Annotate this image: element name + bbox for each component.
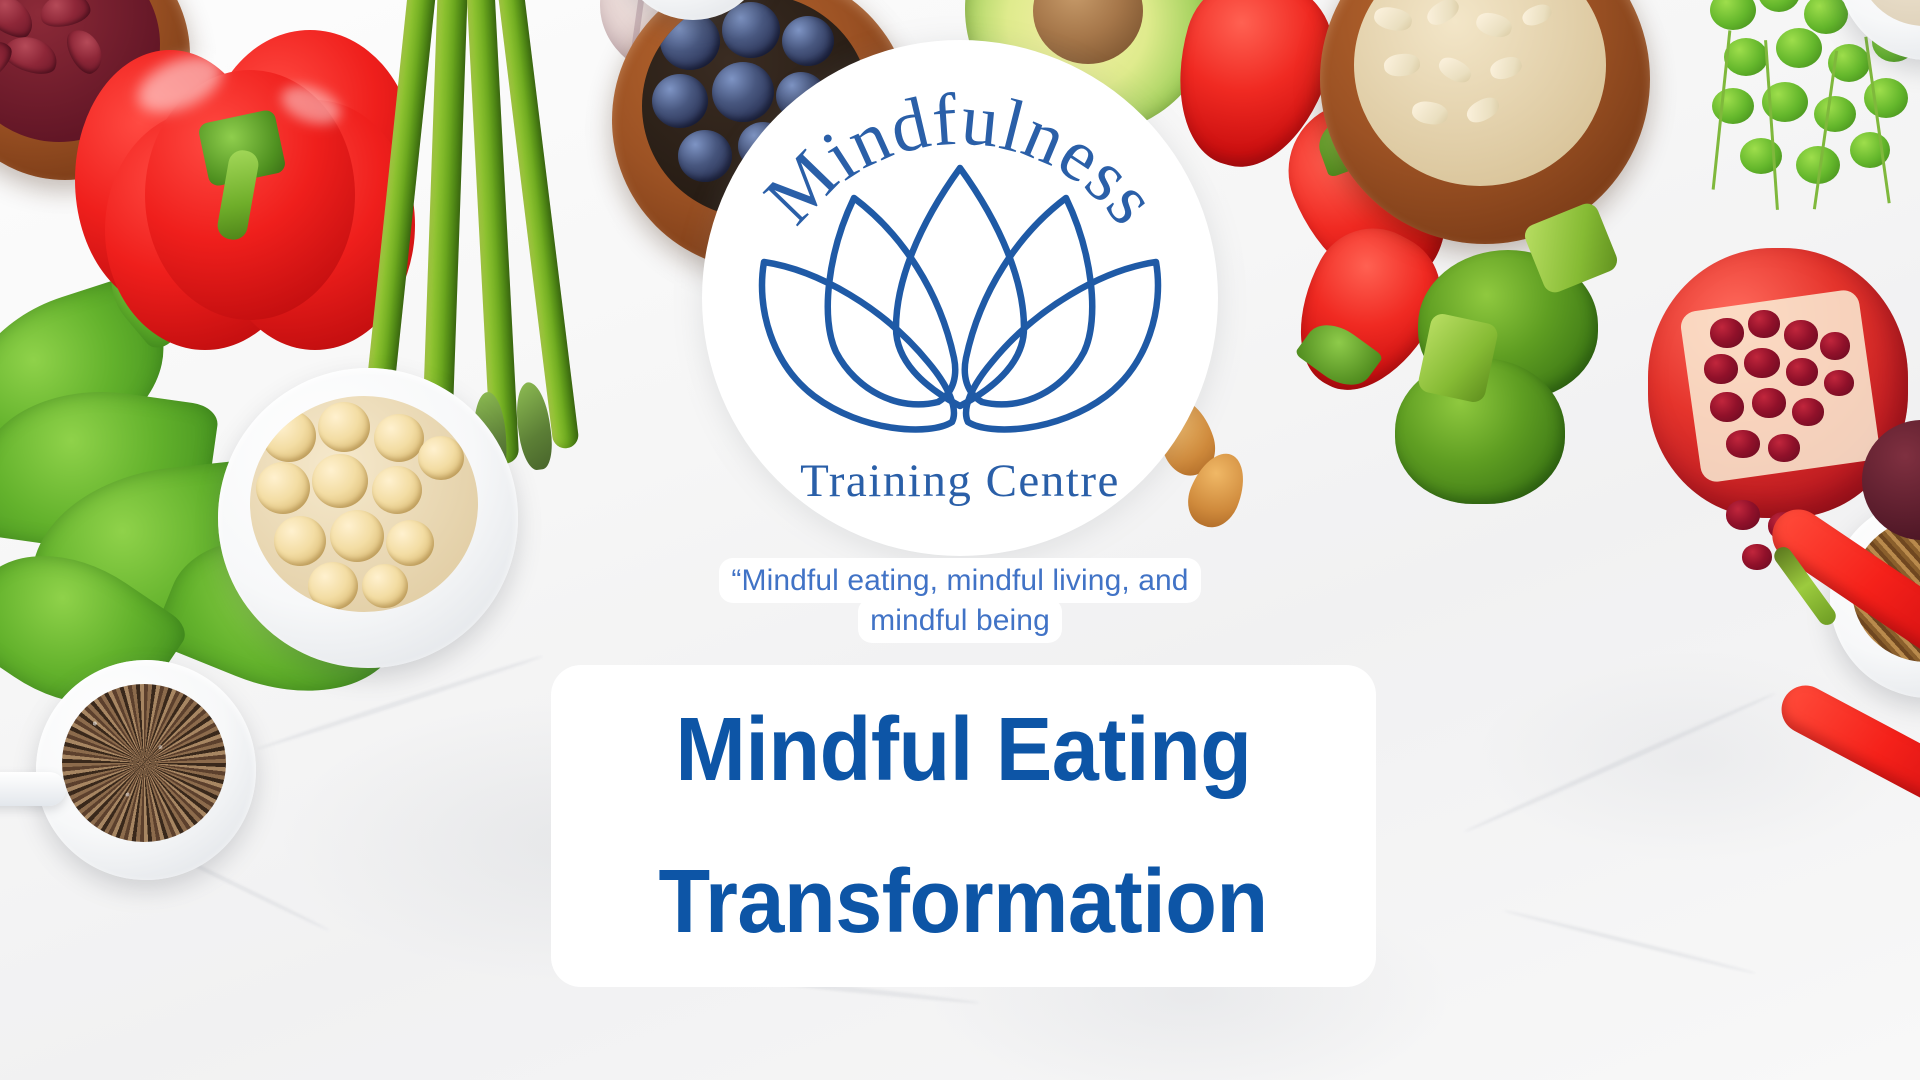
title-line-1: Mindful Eating [675, 674, 1251, 826]
title-card: Mindful Eating Transformation [551, 665, 1376, 987]
logo-bottom-text: Training Centre [800, 455, 1120, 507]
brand-logo[interactable]: Mindfulness Training Centre [702, 40, 1218, 556]
title-line-2: Transformation [659, 826, 1268, 978]
red-bell-pepper [75, 30, 415, 360]
logo-artwork: Mindfulness Training Centre [702, 40, 1218, 556]
tagline-line-2: mindful being [858, 598, 1062, 643]
logo-arc-text: Mindfulness [749, 78, 1173, 240]
logo-arc-textpath: Mindfulness [749, 78, 1173, 240]
poster-canvas: Mindfulness Training Centre “Mindful eat… [0, 0, 1920, 1080]
tagline-quote: “Mindful eating, mindful living, and min… [0, 561, 1920, 641]
pomegranate-seed [1726, 500, 1760, 530]
white-cup-chia [36, 660, 256, 880]
tagline-line-1: “Mindful eating, mindful living, and [719, 558, 1200, 603]
